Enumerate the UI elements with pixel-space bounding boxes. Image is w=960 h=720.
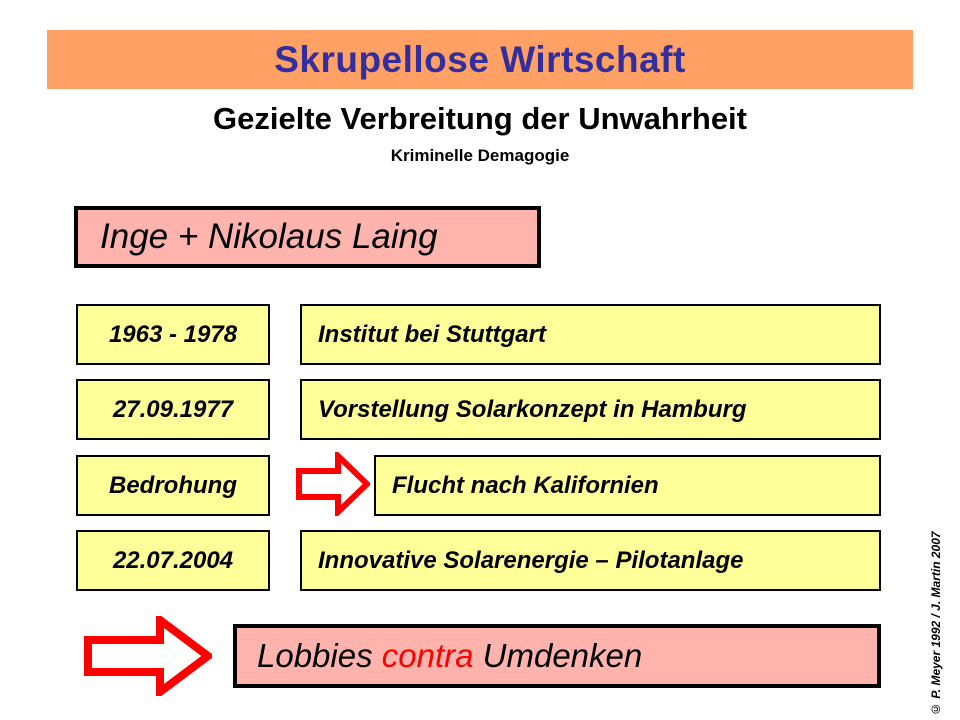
timeline-event-label: Institut bei Stuttgart	[318, 321, 546, 349]
timeline-date-label: 22.07.2004	[113, 547, 233, 575]
timeline-event-3: Flucht nach Kalifornien	[374, 455, 881, 516]
copyright-notice: © P. Meyer 1992 / J. Martin 2007	[926, 516, 946, 716]
page-headline: Gezielte Verbreitung der Unwahrheit	[0, 101, 960, 137]
conclusion-accent: contra	[382, 637, 474, 674]
timeline-event-4: Innovative Solarenergie – Pilotanlage	[300, 530, 881, 591]
timeline-event-label: Innovative Solarenergie – Pilotanlage	[318, 547, 743, 575]
name-box-label: Inge + Nikolaus Laing	[100, 217, 438, 257]
timeline-event-label: Vorstellung Solarkonzept in Hamburg	[318, 396, 746, 424]
timeline-date-4: 22.07.2004	[76, 530, 270, 591]
timeline-date-3: Bedrohung	[76, 455, 270, 516]
conclusion-prefix: Lobbies	[257, 637, 382, 674]
right-arrow-icon	[84, 616, 212, 696]
name-box: Inge + Nikolaus Laing	[74, 206, 541, 268]
conclusion-box: Lobbies contra Umdenken	[233, 624, 881, 688]
timeline-date-2: 27.09.1977	[76, 379, 270, 440]
timeline-date-label: Bedrohung	[109, 472, 237, 500]
conclusion-label: Lobbies contra Umdenken	[257, 637, 642, 675]
title-banner: Skrupellose Wirtschaft	[47, 30, 913, 89]
conclusion-suffix: Umdenken	[473, 637, 642, 674]
banner-title: Skrupellose Wirtschaft	[274, 39, 686, 81]
timeline-date-label: 27.09.1977	[113, 396, 233, 424]
timeline-event-label: Flucht nach Kalifornien	[392, 472, 659, 500]
timeline-event-2: Vorstellung Solarkonzept in Hamburg	[300, 379, 881, 440]
page-subheadline: Kriminelle Demagogie	[0, 146, 960, 166]
timeline-event-1: Institut bei Stuttgart	[300, 304, 881, 365]
timeline-date-label: 1963 - 1978	[109, 321, 237, 349]
timeline-date-1: 1963 - 1978	[76, 304, 270, 365]
right-arrow-icon	[296, 452, 370, 516]
